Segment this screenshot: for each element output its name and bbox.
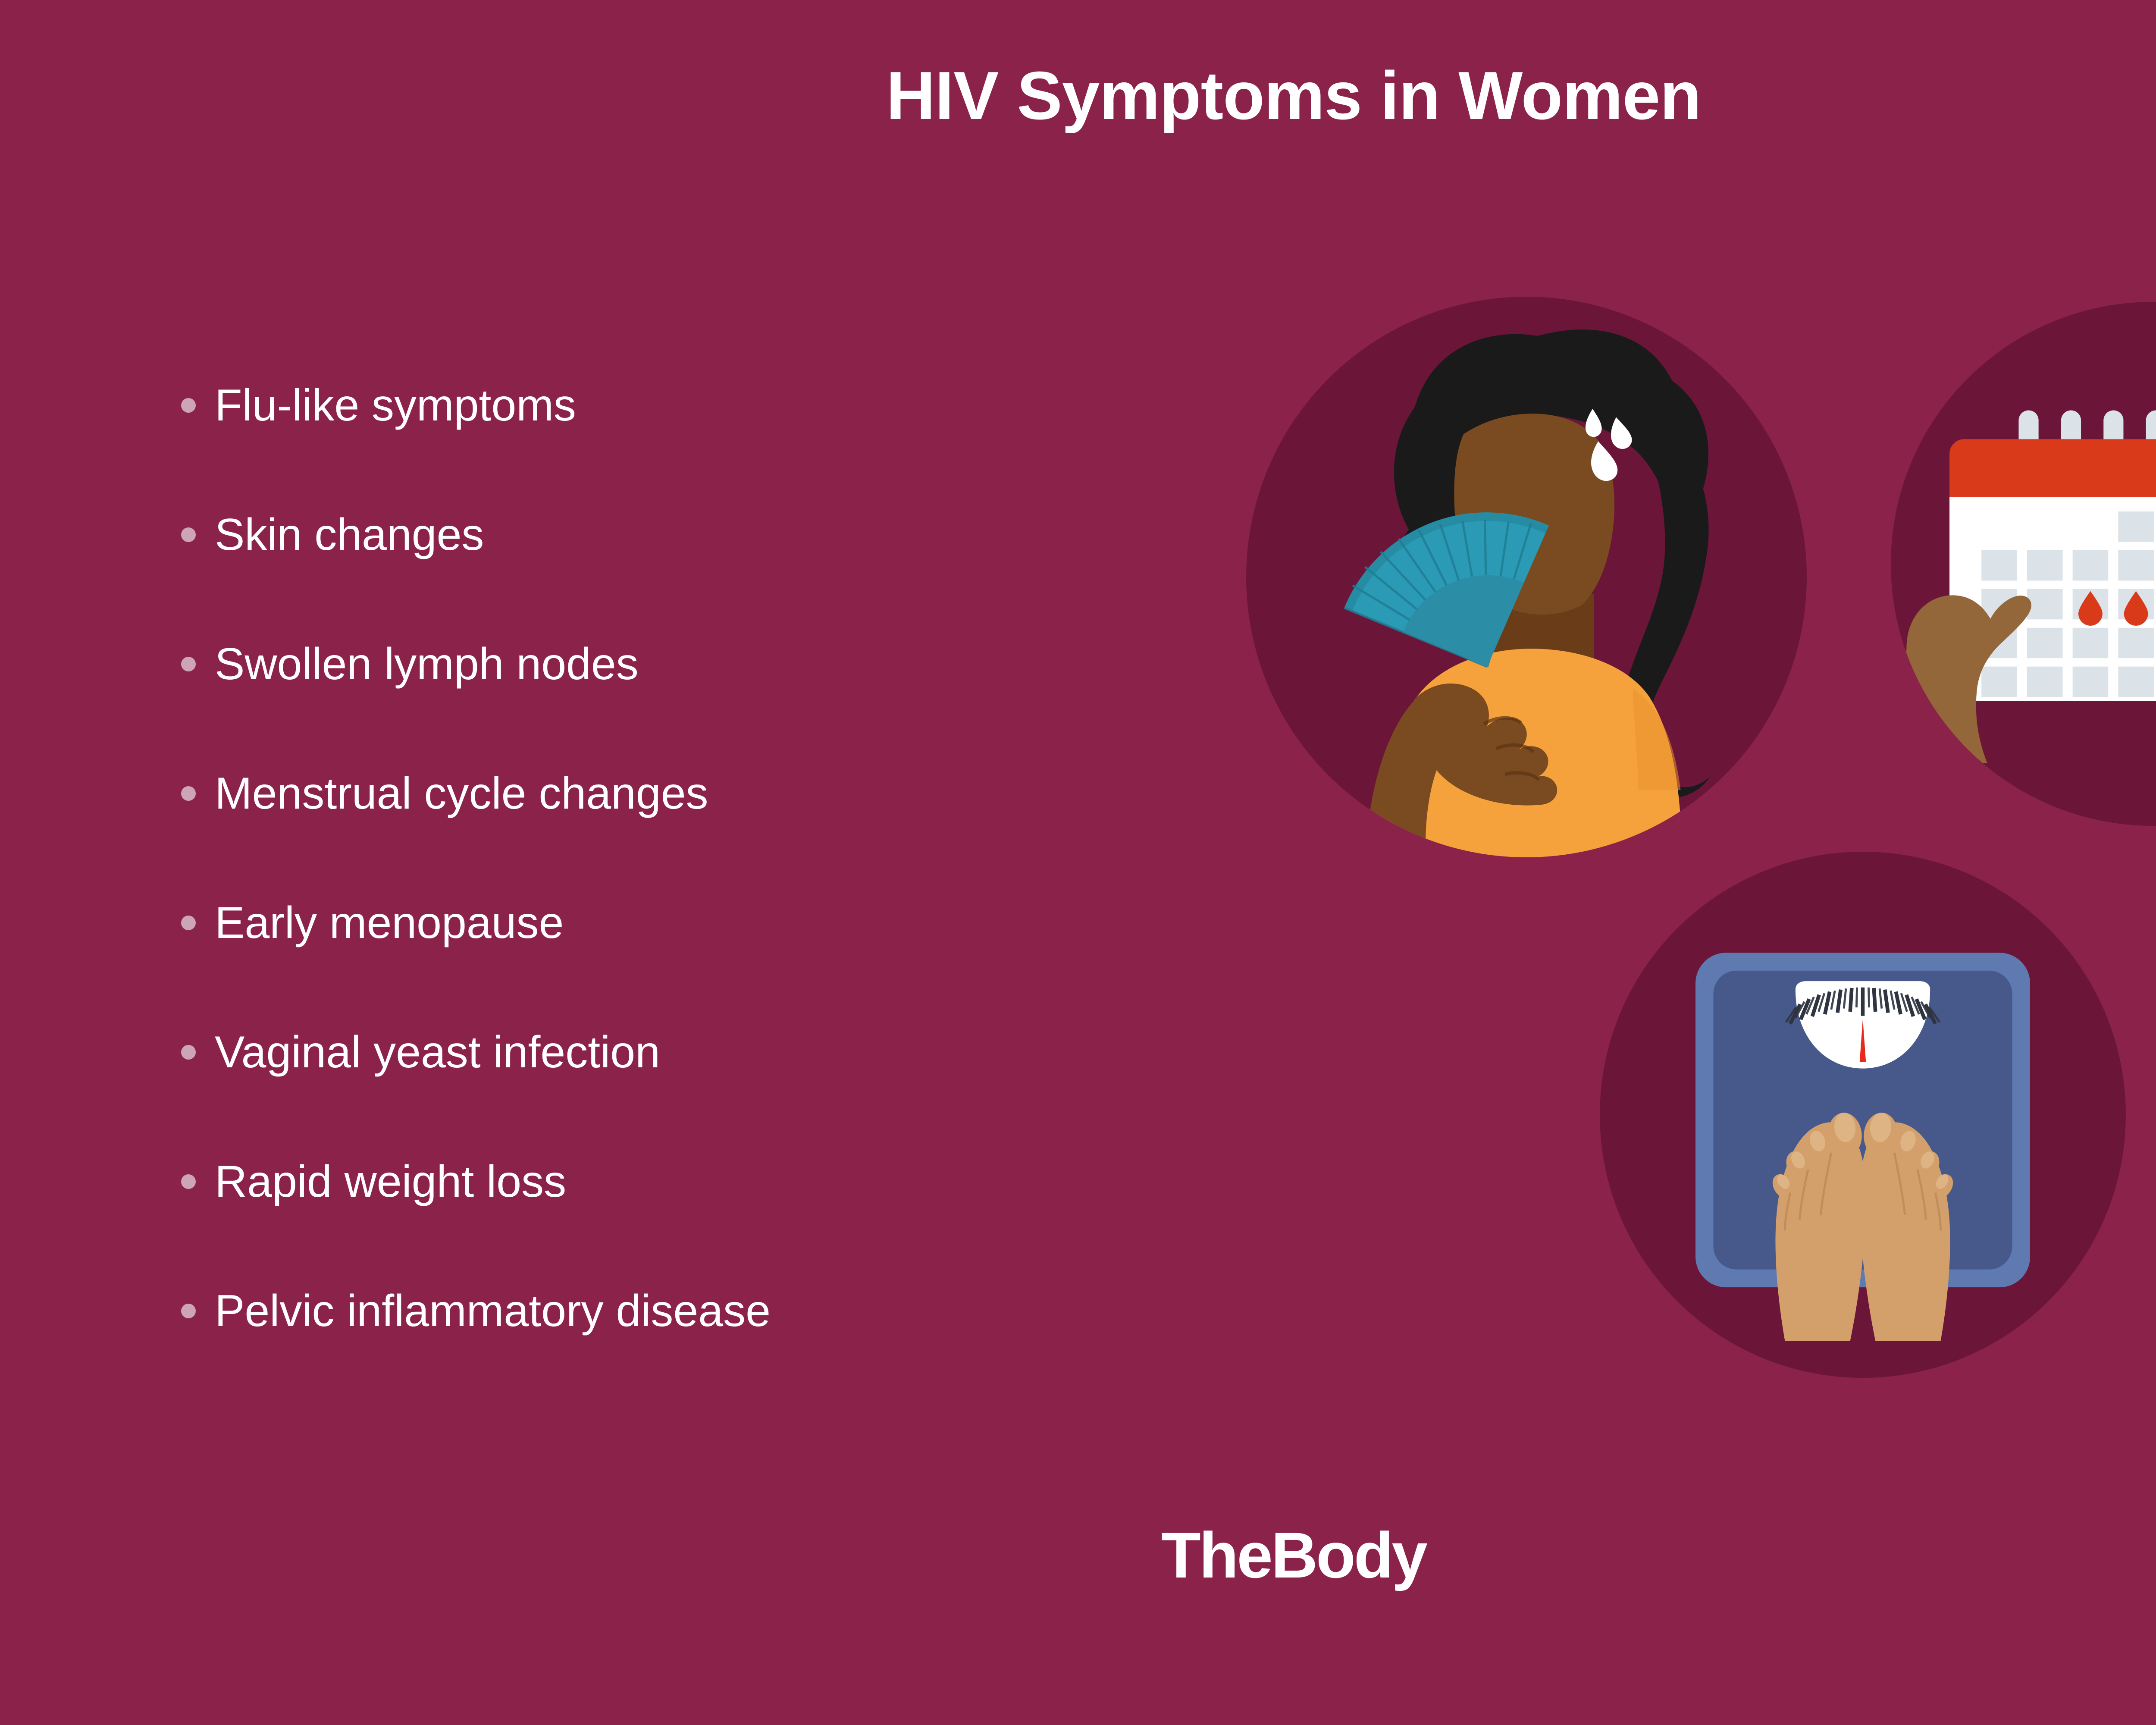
illustration-woman-fanning-herself	[1246, 297, 1807, 857]
bullet-dot-icon	[181, 786, 196, 801]
bullet-dot-icon	[181, 527, 196, 542]
menstrual-calendar-icon	[1891, 302, 2156, 826]
bullet-dot-icon	[181, 1174, 196, 1189]
symptom-label: Flu-like symptoms	[215, 381, 576, 430]
bullet-dot-icon	[181, 1304, 196, 1318]
illustration-hands-holding-menstrual-calendar	[1891, 302, 2156, 826]
symptom-label: Rapid weight loss	[215, 1157, 566, 1206]
list-item: Swollen lymph nodes	[181, 599, 1259, 729]
illustration-feet-on-bathroom-scale	[1600, 852, 2126, 1378]
list-item: Vaginal yeast infection	[181, 988, 1259, 1117]
woman-fanning-icon	[1246, 297, 1807, 857]
symptom-label: Menstrual cycle changes	[215, 769, 708, 818]
page-title: HIV Symptoms in Women	[0, 60, 2156, 132]
list-item: Flu-like symptoms	[181, 341, 1259, 470]
symptom-label: Pelvic inflammatory disease	[215, 1286, 771, 1336]
bullet-dot-icon	[181, 916, 196, 930]
bullet-dot-icon	[181, 1045, 196, 1060]
list-item: Skin changes	[181, 470, 1259, 599]
bullet-dot-icon	[181, 657, 196, 671]
bathroom-scale-icon	[1600, 852, 2126, 1378]
list-item: Early menopause	[181, 858, 1259, 988]
symptom-list: Flu-like symptoms Skin changes Swollen l…	[181, 341, 1259, 1376]
symptom-label: Early menopause	[215, 898, 564, 947]
list-item: Rapid weight loss	[181, 1117, 1259, 1246]
bullet-dot-icon	[181, 398, 196, 413]
list-item: Menstrual cycle changes	[181, 729, 1259, 858]
symptom-label: Skin changes	[215, 510, 484, 559]
thebody-logo: TheBody	[0, 1518, 2156, 1593]
list-item: Pelvic inflammatory disease	[181, 1246, 1259, 1376]
calendar-header	[1949, 439, 2156, 497]
symptom-label: Vaginal yeast infection	[215, 1028, 660, 1077]
symptom-label: Swollen lymph nodes	[215, 640, 639, 689]
